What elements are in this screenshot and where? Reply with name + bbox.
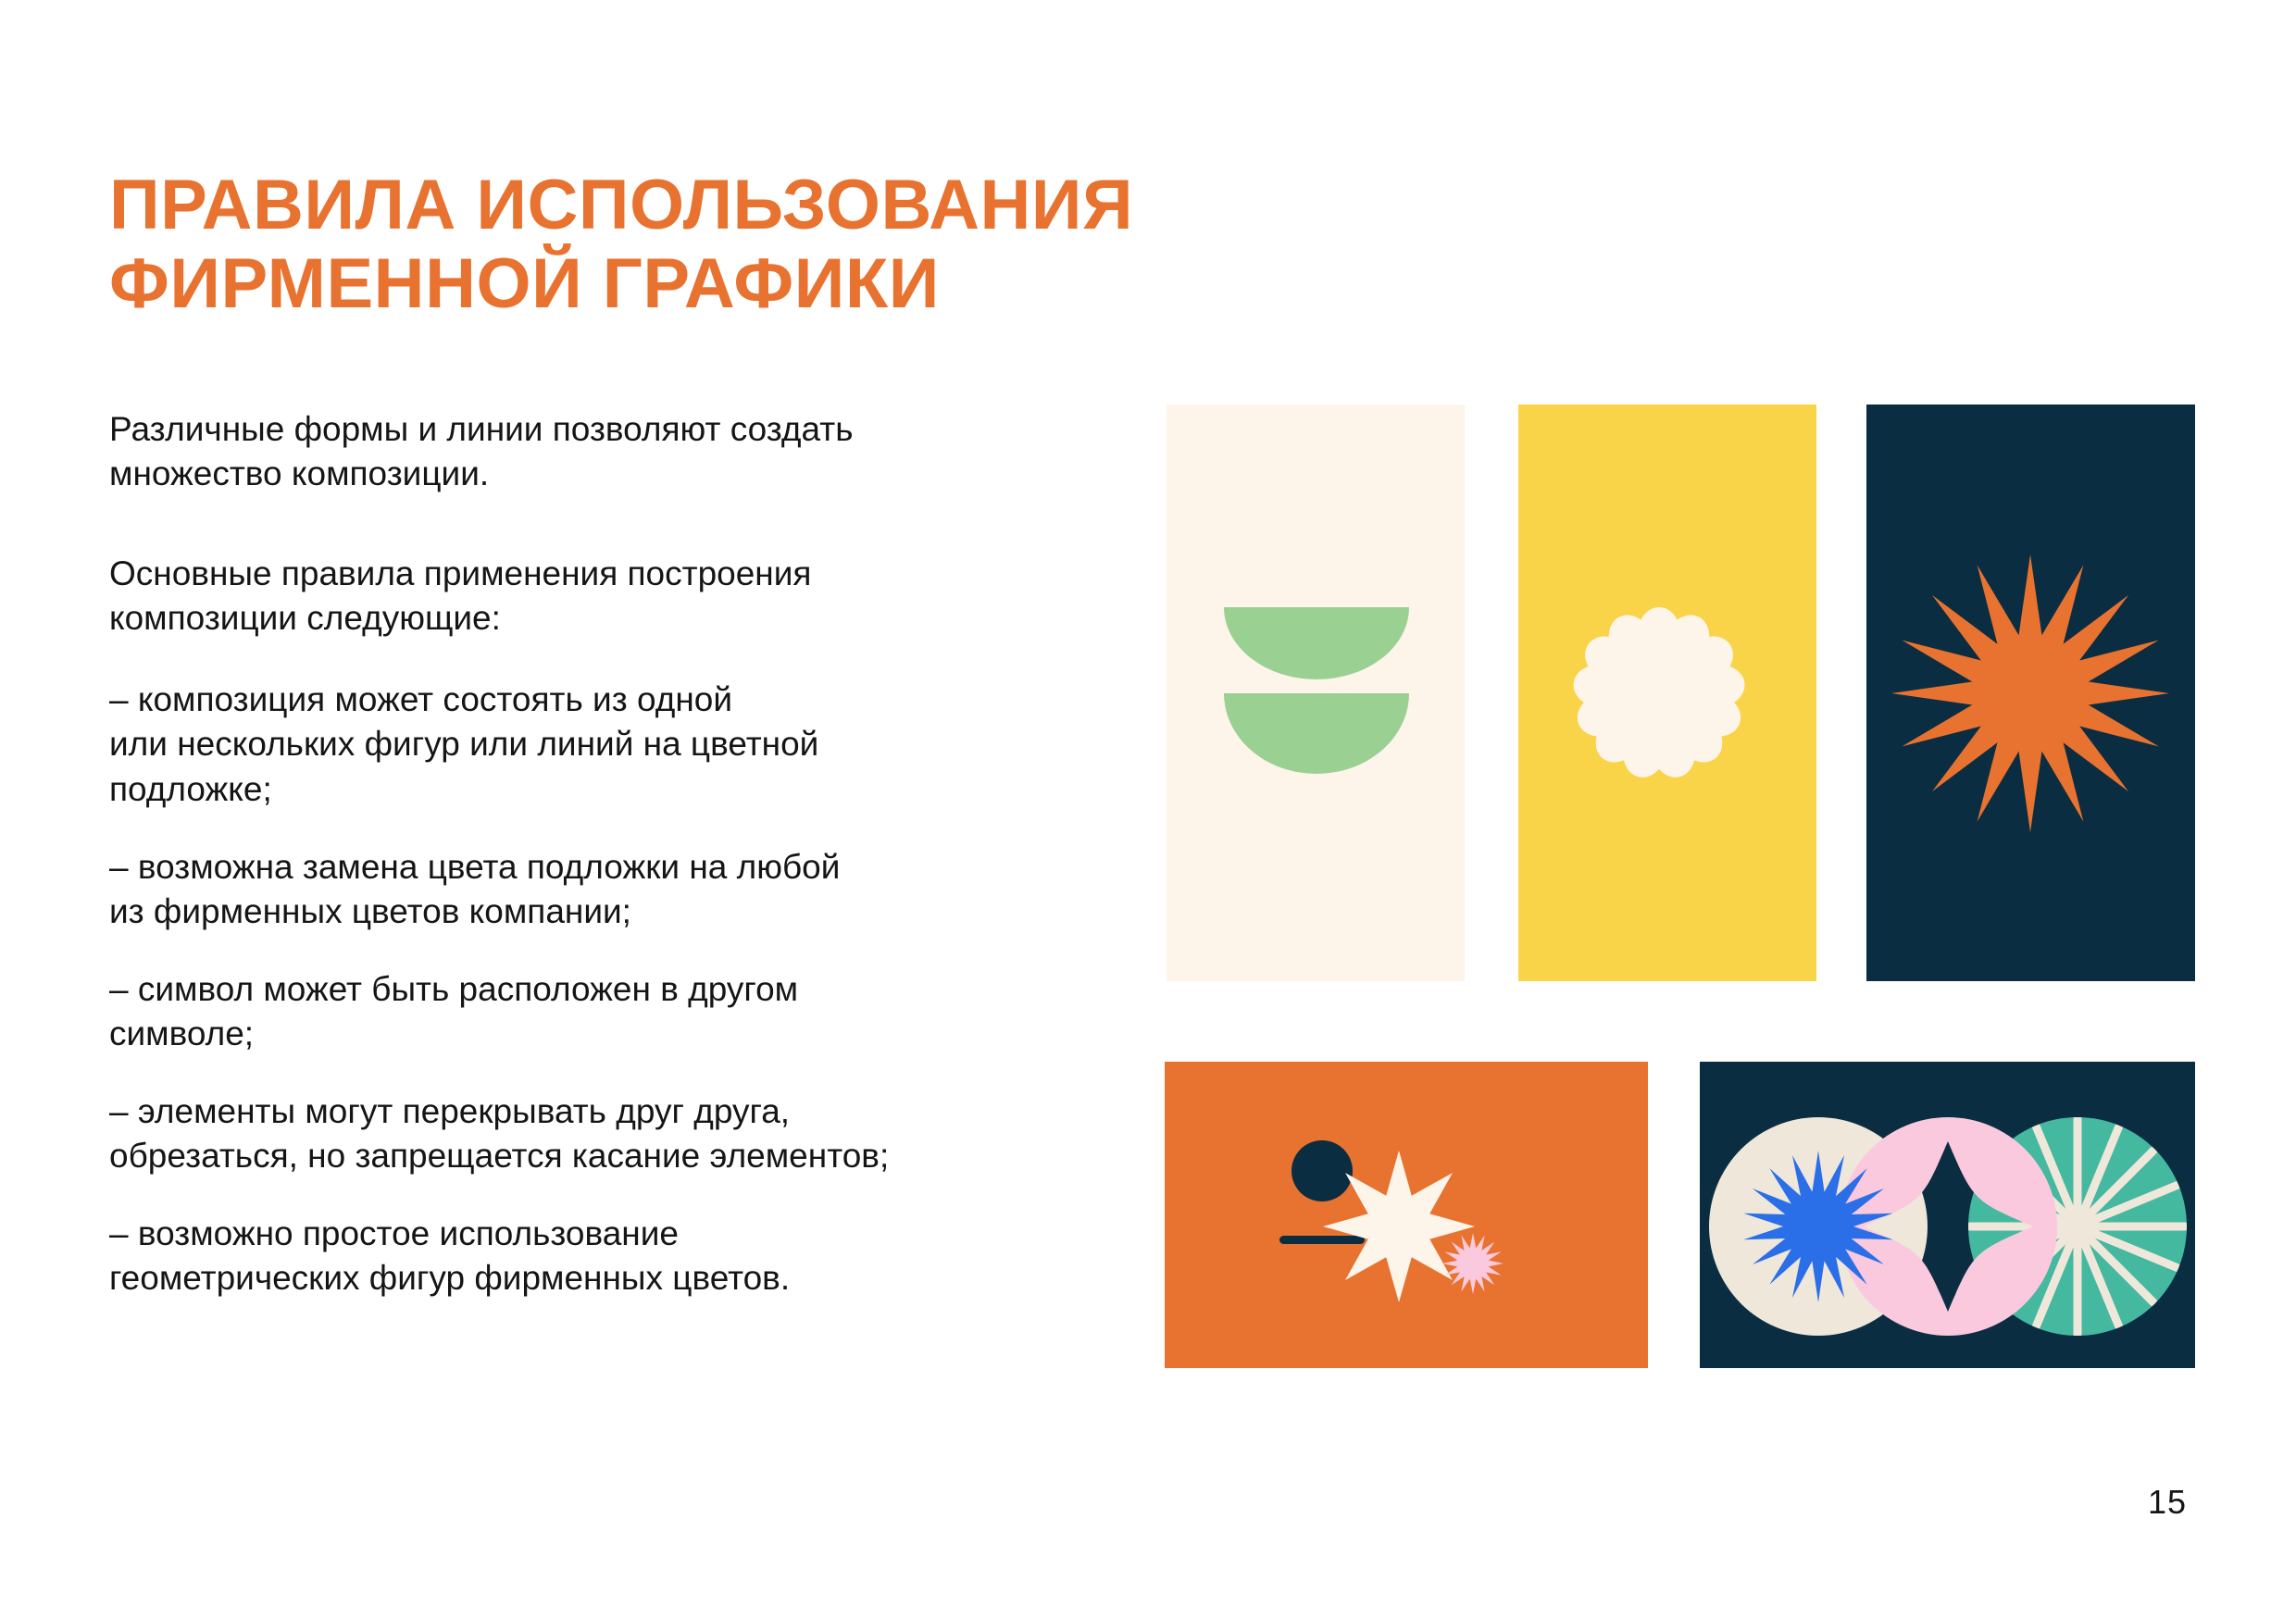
graphics-examples-grid: [0, 0, 2296, 1618]
graphic-card-orange-composition: [1165, 1062, 1648, 1368]
graphic-card-cream-bowls: [1167, 404, 1465, 981]
graphic-card-yellow-flower: [1518, 404, 1816, 981]
pink-starburst-icon: [1442, 1233, 1504, 1294]
graphic-card-navy-starburst: [1866, 404, 2195, 981]
navy-dot-icon: [1291, 1140, 1353, 1201]
slide-canvas: ПРАВИЛА ИСПОЛЬЗОВАНИЯ ФИРМЕННОЙ ГРАФИКИ …: [0, 0, 2296, 1618]
page-number: 15: [2148, 1483, 2187, 1522]
navy-line-icon: [1279, 1236, 1365, 1244]
cream-8-point-star-icon: [1323, 1151, 1475, 1302]
pink-circle-icon: [1839, 1117, 2057, 1336]
graphic-card-navy-circles: [1700, 1062, 2195, 1368]
orange-starburst-icon: [1891, 554, 2169, 832]
card-background: [1167, 404, 1465, 981]
